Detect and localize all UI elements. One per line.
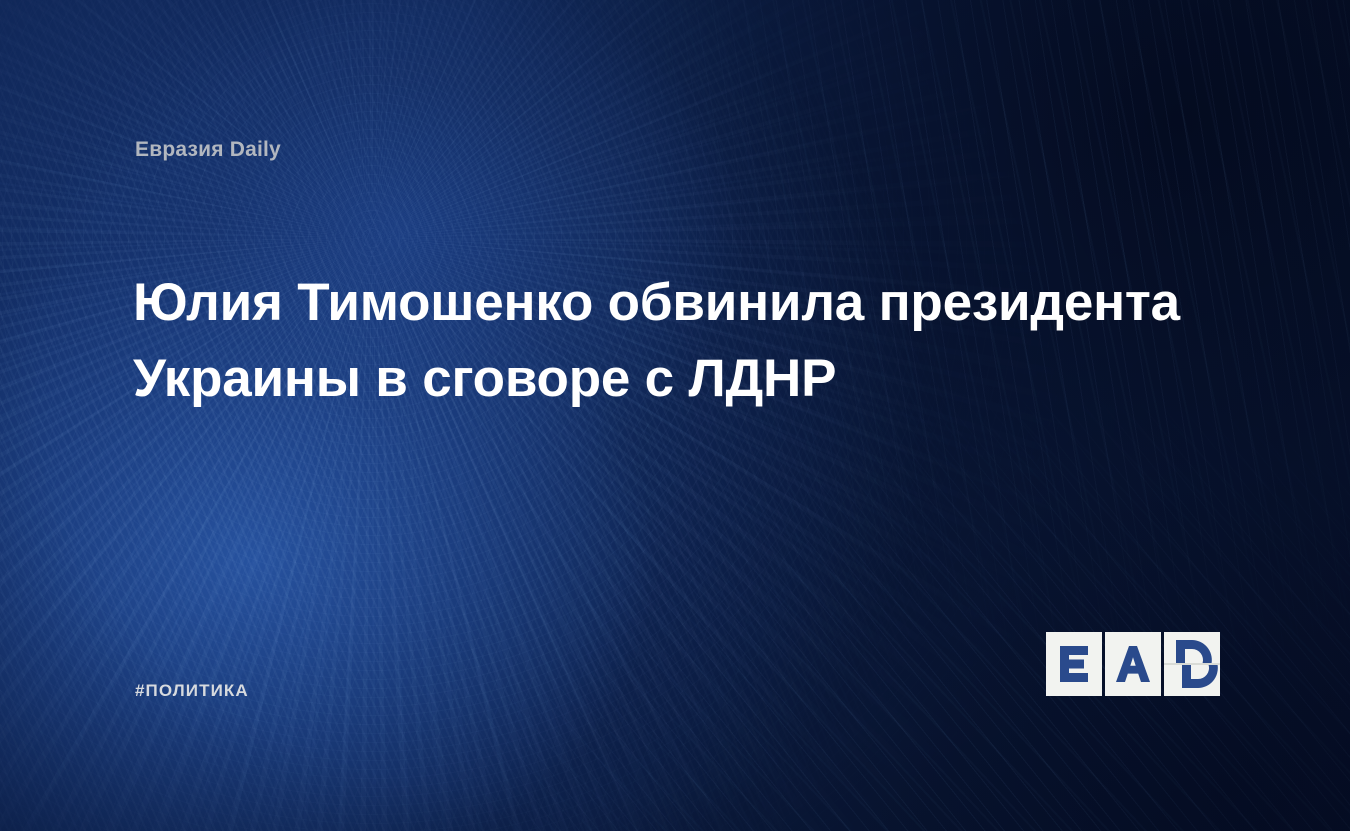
article-cover-card: Евразия Daily Юлия Тимошенко обвинила пр…: [0, 0, 1350, 831]
logo-letter-e-icon: [1046, 632, 1102, 696]
logo-letter-a-icon: [1105, 632, 1161, 696]
site-name-label: Евразия Daily: [135, 138, 281, 162]
eadaily-logo[interactable]: [1046, 632, 1220, 696]
category-tag[interactable]: #ПОЛИТИКА: [135, 681, 249, 701]
logo-letter-d-split-icon: [1164, 632, 1220, 696]
page-title-line-2: Украины в сговоре с ЛДНР: [133, 341, 1223, 417]
page-title: Юлия Тимошенко обвинила президента Украи…: [133, 265, 1223, 417]
page-title-line-1: Юлия Тимошенко обвинила президента: [133, 265, 1223, 341]
